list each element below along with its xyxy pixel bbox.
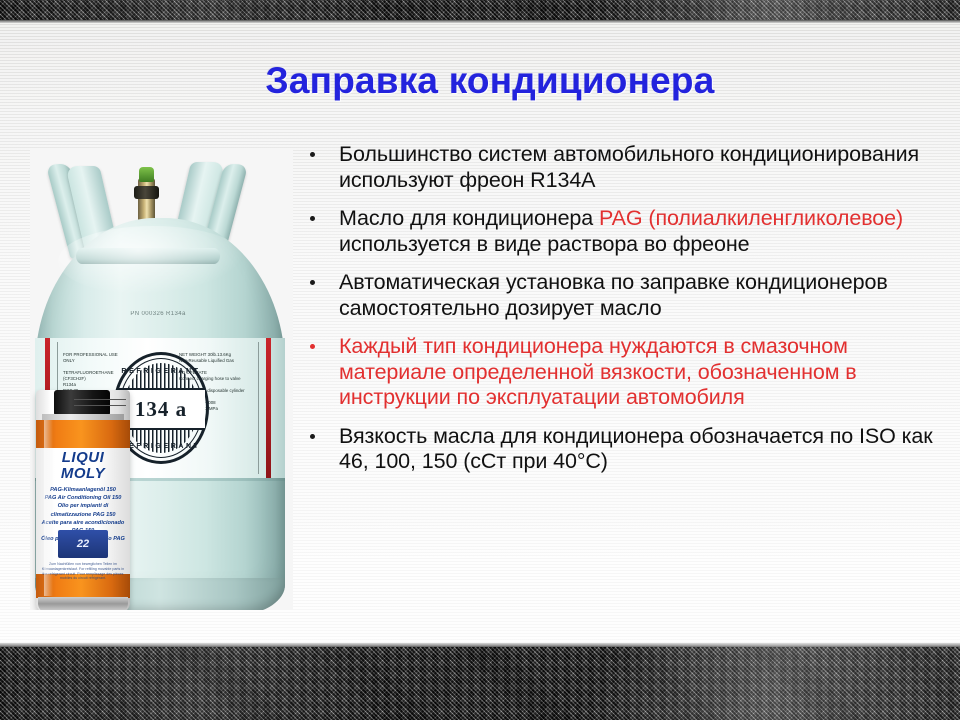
can-cap-line-2 bbox=[74, 405, 126, 406]
carbon-bottom-sheen bbox=[0, 643, 960, 720]
bullet-list: Большинство систем автомобильного кондиц… bbox=[306, 142, 952, 488]
valve-green-cap-icon bbox=[139, 167, 154, 182]
slide: Заправка кондиционера PN 000326 R134a FO… bbox=[0, 0, 960, 720]
can-foot bbox=[38, 597, 128, 610]
carbon-fiber-bottom-band bbox=[0, 643, 960, 720]
bullet-item: Масло для кондиционера PAG (полиалкиленг… bbox=[306, 206, 952, 257]
label-rule-right bbox=[258, 342, 259, 474]
bullet-marker-icon bbox=[310, 216, 315, 221]
liqui-moly-oil-can: LIQUI MOLY PAG-Klimaanlagenöl 150PAG Air… bbox=[36, 390, 130, 610]
bullet-marker-icon bbox=[310, 434, 315, 439]
seal-center-plate: 134 a bbox=[117, 388, 205, 430]
valve-band-upper bbox=[134, 186, 159, 199]
can-cap-line-1 bbox=[74, 399, 126, 400]
can-viscosity-badge: 22 bbox=[58, 530, 108, 558]
bullet-text: Вязкость масла для кондиционера обознача… bbox=[339, 424, 933, 474]
brand-line-1: LIQUI bbox=[62, 449, 105, 466]
bullet-text: Масло для кондиционера bbox=[339, 206, 599, 230]
cylinder-shoulder-mark: PN 000326 R134a bbox=[118, 310, 198, 318]
bullet-text: Каждый тип кондиционера нуждаются в смаз… bbox=[339, 334, 857, 409]
bullet-marker-icon bbox=[310, 152, 315, 157]
bullet-text: используется в виде раствора во фреоне bbox=[339, 232, 750, 256]
bullet-item: Каждый тип кондиционера нуждаются в смаз… bbox=[306, 334, 952, 411]
carbon-fiber-top-band bbox=[0, 0, 960, 23]
bullet-item: Автоматическая установка по заправке кон… bbox=[306, 270, 952, 321]
bullet-text: Большинство систем автомобильного кондиц… bbox=[339, 142, 919, 192]
carbon-top-edge bbox=[0, 20, 960, 23]
bullet-text: Автоматическая установка по заправке кон… bbox=[339, 270, 888, 320]
product-photo: PN 000326 R134a FOR PROFESSIONAL USE ONL… bbox=[30, 148, 293, 610]
bullet-item: Большинство систем автомобильного кондиц… bbox=[306, 142, 952, 193]
bullet-item: Вязкость масла для кондиционера обознача… bbox=[306, 424, 952, 475]
seal-top-text: REFRIGERANT bbox=[113, 368, 209, 375]
bullet-marker-icon bbox=[310, 344, 315, 349]
can-cap bbox=[54, 390, 110, 416]
bullet-text-highlight: PAG (полиалкиленгликолевое) bbox=[599, 206, 903, 230]
bullet-marker-icon bbox=[310, 280, 315, 285]
seal-center-text: 134 a bbox=[135, 397, 187, 422]
label-red-bar-right bbox=[266, 338, 271, 478]
cylinder-highlight bbox=[58, 226, 248, 296]
can-gloss-highlight bbox=[44, 420, 53, 596]
page-title: Заправка кондиционера bbox=[140, 62, 840, 101]
